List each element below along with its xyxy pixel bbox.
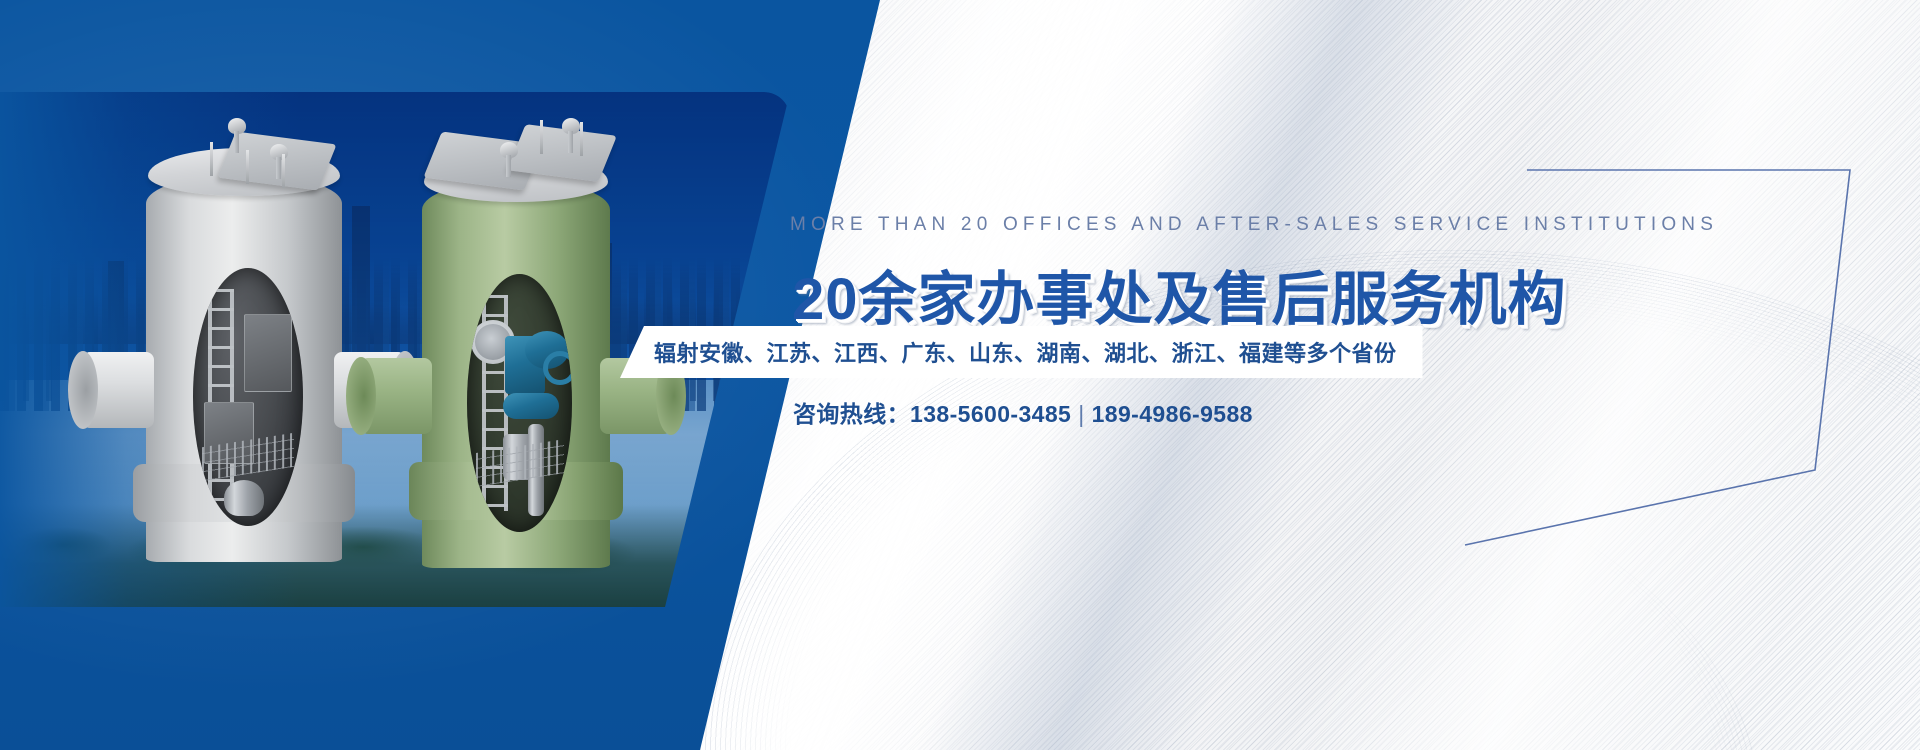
headline: 20余家办事处及售后服务机构 xyxy=(792,252,1567,336)
gray-vent-cap xyxy=(270,144,288,160)
hotline-number-1[interactable]: 138-5600-3485 xyxy=(910,401,1071,427)
product-green-pump-station xyxy=(422,126,610,518)
product-gray-pump-station xyxy=(146,120,342,520)
hotline-number-2[interactable]: 189-4986-9588 xyxy=(1092,401,1253,427)
green-cutaway-interior xyxy=(467,274,572,532)
gray-interior-panel xyxy=(244,314,292,391)
english-tagline: MORE THAN 20 OFFICES AND AFTER-SALES SER… xyxy=(790,214,1718,236)
hotline-row: 咨询热线：138-5600-3485|189-4986-9588 xyxy=(793,395,1253,429)
green-handwheel xyxy=(543,351,572,385)
green-valve-elbow xyxy=(503,393,559,419)
gray-vent-cap xyxy=(228,118,246,134)
green-antenna xyxy=(540,120,543,154)
green-vent-cap xyxy=(562,118,580,134)
hotline-label: 咨询热线： xyxy=(793,401,910,427)
green-vent-cap xyxy=(500,142,518,158)
green-pipe-mouth xyxy=(346,357,376,435)
gray-antenna xyxy=(210,142,213,176)
gray-antenna xyxy=(282,154,285,188)
gray-interior-pump xyxy=(224,480,264,516)
gray-cutaway-interior xyxy=(193,268,303,526)
hotline-separator: | xyxy=(1071,401,1091,427)
promo-banner: MORE THAN 20 OFFICES AND AFTER-SALES SER… xyxy=(0,0,1920,750)
green-inlet-pipe xyxy=(360,358,432,434)
coverage-bar: 辐射安徽、江苏、江西、广东、山东、湖南、湖北、浙江、福建等多个省份 xyxy=(620,326,1423,378)
gray-inlet-pipe xyxy=(82,352,154,428)
coverage-text: 辐射安徽、江苏、江西、广东、山东、湖南、湖北、浙江、福建等多个省份 xyxy=(654,336,1397,368)
green-antenna xyxy=(580,122,583,156)
gray-antenna xyxy=(246,150,249,184)
gray-pipe-mouth xyxy=(68,351,98,429)
